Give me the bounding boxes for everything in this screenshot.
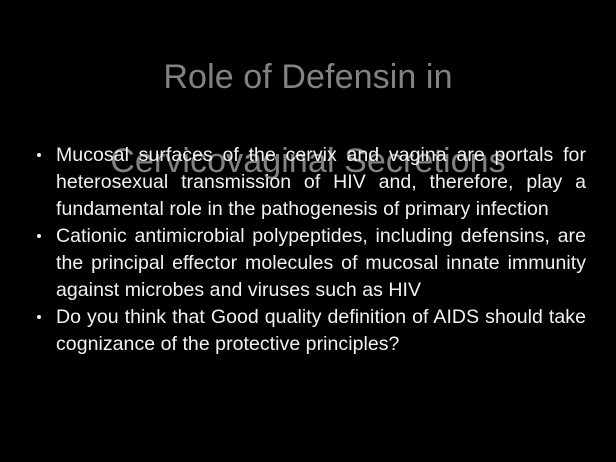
list-item: Mucosal surfaces of the cervix and vagin… xyxy=(30,142,586,223)
list-item: Cationic antimicrobial polypeptides, inc… xyxy=(30,223,586,304)
bullet-dot-icon xyxy=(37,315,41,319)
list-item-text: Cationic antimicrobial polypeptides, inc… xyxy=(56,223,586,304)
bullet-list: Mucosal surfaces of the cervix and vagin… xyxy=(30,142,586,358)
bullet-dot-icon xyxy=(37,234,41,238)
list-item-text: Do you think that Good quality definitio… xyxy=(56,304,586,358)
bullet-dot-icon xyxy=(37,153,41,157)
list-item-text: Mucosal surfaces of the cervix and vagin… xyxy=(56,142,586,223)
slide-canvas: Role of Defensin in Cervicovaginal Secre… xyxy=(0,0,616,462)
page-title-line-1: Role of Defensin in xyxy=(0,56,616,98)
list-item: Do you think that Good quality definitio… xyxy=(30,304,586,358)
